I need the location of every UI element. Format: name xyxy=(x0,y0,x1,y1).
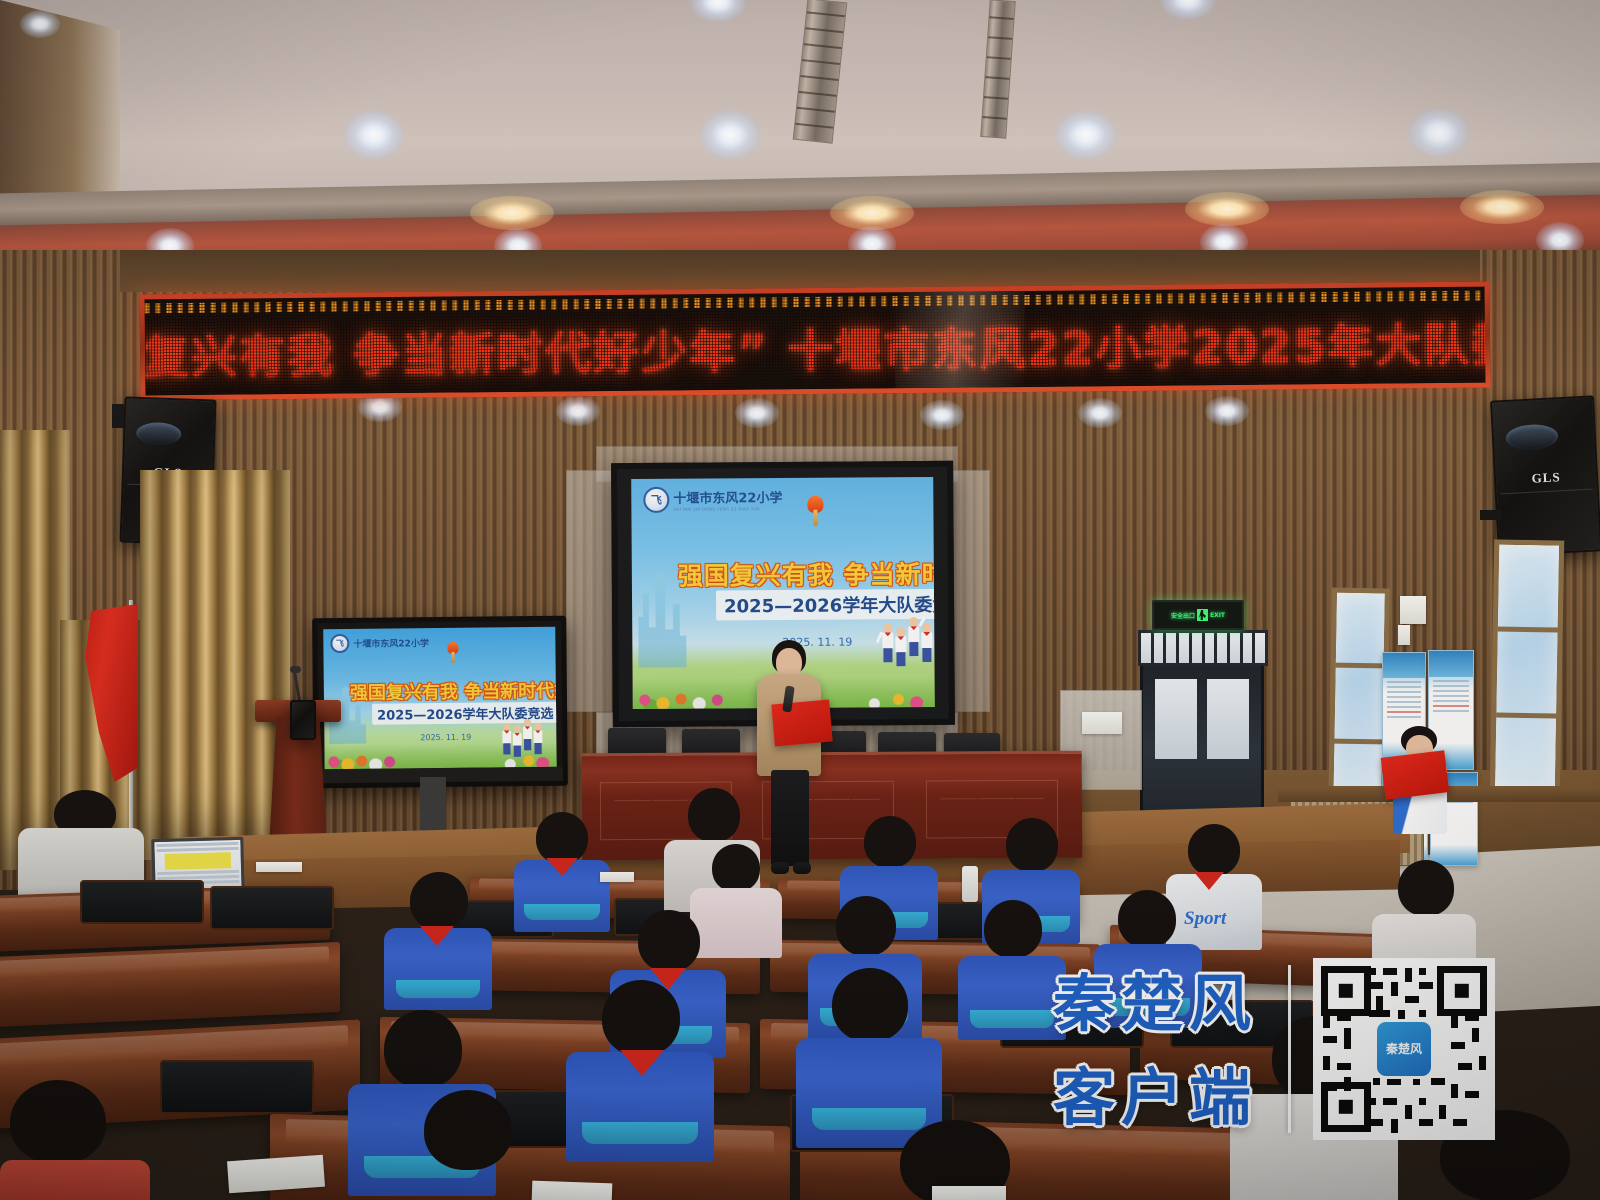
exit-sign: 安全出口 EXIT xyxy=(1152,600,1244,630)
slide-torch-icon xyxy=(807,496,823,526)
transom-pane xyxy=(1255,633,1265,663)
ceiling-cove-light xyxy=(1185,192,1269,226)
transom-pane xyxy=(1154,633,1164,663)
desk-paper xyxy=(600,872,634,882)
transom-pane xyxy=(1243,633,1253,663)
watermark-line-2: 客户端 xyxy=(1035,1047,1275,1137)
transom-pane xyxy=(1205,633,1215,663)
audience-desk-row xyxy=(0,942,340,1028)
door-glass-panel xyxy=(1155,679,1197,759)
slide-kid xyxy=(895,627,906,666)
led-banner-text: “强国复兴有我 争当新时代好少年” 十堰市东风22小学2025年大队委竞选 xyxy=(140,307,1491,388)
audience-student xyxy=(512,812,612,922)
student-hair xyxy=(1118,890,1176,948)
soffit-light xyxy=(735,398,779,428)
slide-school-name: 十堰市东风22小学 xyxy=(673,487,782,507)
transom-pane xyxy=(1230,633,1240,663)
qr-eye-tr xyxy=(1437,966,1487,1016)
student-collar xyxy=(582,1122,698,1144)
transom-pane xyxy=(1166,633,1176,663)
right-window-1 xyxy=(1328,588,1390,817)
poster-header xyxy=(1383,653,1425,678)
ceiling-cove-light xyxy=(830,196,914,230)
student-hair xyxy=(424,1090,512,1170)
slide-kid xyxy=(908,617,919,656)
poster-header xyxy=(1429,651,1473,677)
slide-kid xyxy=(533,723,542,754)
watermark-divider xyxy=(1288,965,1291,1133)
desk-paper xyxy=(932,1186,1006,1200)
audience-student xyxy=(382,872,494,1002)
watermark-brand: 秦楚风 客户端 xyxy=(1035,955,1275,1135)
door-glass-panel xyxy=(1207,679,1249,759)
student-jacket xyxy=(0,1160,150,1200)
slide-subtitle: 2025—2026学年大队委竞选 xyxy=(716,589,935,621)
student-hair xyxy=(638,910,700,972)
ceiling-downlight xyxy=(700,110,760,160)
ceiling-cove-light xyxy=(470,196,554,230)
tv-school-name: 十堰市东风22小学 xyxy=(353,636,429,650)
water-bottle xyxy=(962,866,978,902)
audience-student xyxy=(404,1090,534,1200)
soffit-light xyxy=(1078,398,1122,428)
exit-sign-cn-left: 安全出口 xyxy=(1171,611,1195,620)
led-screen: “强国复兴有我 争当新时代好少年” 十堰市东风22小学2025年大队委竞选 xyxy=(145,301,1486,396)
wall-switch-plate xyxy=(1398,625,1410,645)
desk-paper xyxy=(532,1181,613,1200)
speaker-split-line xyxy=(1501,489,1593,495)
transom-pane xyxy=(1179,633,1189,663)
tv-slide: 飞 十堰市东风22小学 强国复兴有我 争当新时代好少年 2025—2026学年大… xyxy=(323,627,556,769)
spreadsheet-highlight xyxy=(165,852,231,870)
exit-sign-en: EXIT xyxy=(1210,612,1225,619)
desk-paper xyxy=(256,862,302,872)
audience-seatback xyxy=(80,880,204,924)
tv-school-logo: 飞 十堰市东风22小学 xyxy=(330,633,429,653)
wall-speaker-right: GLS xyxy=(1490,395,1600,556)
audience-seatback xyxy=(210,886,334,930)
slide-kid xyxy=(523,719,532,750)
speaker-brand-label: GLS xyxy=(1496,467,1597,488)
window-mullion xyxy=(1496,712,1556,718)
window-mullion xyxy=(1334,739,1382,745)
transom-pane xyxy=(1192,633,1202,663)
speaker-bracket-right xyxy=(1480,510,1502,520)
soffit-light xyxy=(920,400,964,430)
soffit-light xyxy=(556,396,600,426)
speaker-horn xyxy=(135,422,182,446)
presenter-red-folder xyxy=(771,700,832,747)
ceiling-cove-light xyxy=(1460,190,1544,224)
ceiling-downlight xyxy=(20,10,60,38)
desk-paper xyxy=(227,1155,325,1194)
window-mullion xyxy=(1498,626,1558,632)
auditorium-photo: “强国复兴有我 争当新时代好少年” 十堰市东风22小学2025年大队委竞选 GL… xyxy=(0,0,1600,1200)
podium-mic-head xyxy=(290,666,301,673)
window-mullion xyxy=(1336,663,1384,669)
led-banner: “强国复兴有我 争当新时代好少年” 十堰市东风22小学2025年大队委竞选 xyxy=(140,282,1491,401)
slide-kid xyxy=(513,726,522,757)
wall-panel xyxy=(566,470,612,712)
right-window-2 xyxy=(1490,539,1565,800)
slide-kid xyxy=(882,623,893,662)
student-reading xyxy=(1385,726,1455,866)
slide-kid xyxy=(502,723,511,754)
wall-info-plate xyxy=(1082,712,1122,734)
student-hair xyxy=(836,896,896,956)
student-hair xyxy=(984,900,1042,958)
student-hair xyxy=(384,1010,462,1088)
slide-kid xyxy=(921,623,932,662)
led-glare xyxy=(895,291,1026,388)
speaker-bracket-left xyxy=(112,404,124,428)
left-tv-display: 飞 十堰市东风22小学 强国复兴有我 争当新时代好少年 2025—2026学年大… xyxy=(312,616,568,789)
ceiling-downlight xyxy=(344,110,404,160)
soffit-light xyxy=(1205,396,1249,426)
slide-school-logo: 飞 十堰市东风22小学 SHI YAN SHI DONG FENG 22 XIA… xyxy=(643,486,782,513)
tv-torch-icon xyxy=(447,642,458,663)
slide-kid xyxy=(934,619,935,658)
qr-eye-tl xyxy=(1321,966,1371,1016)
podium-monitor-speaker xyxy=(290,700,316,740)
school-badge-icon: 飞 xyxy=(643,487,669,513)
student-collar xyxy=(396,980,480,998)
running-man-icon xyxy=(1197,609,1208,621)
student-collar xyxy=(524,904,600,920)
student-hair xyxy=(832,968,908,1042)
slide-school-pinyin: SHI YAN SHI DONG FENG 22 XIAO XUE xyxy=(673,506,782,512)
door-transom xyxy=(1138,630,1268,666)
tv-students-illustration xyxy=(502,719,542,755)
qr-center-logo: 秦楚风 xyxy=(1377,1022,1431,1076)
watermark-line-1: 秦楚风 xyxy=(1035,953,1275,1043)
student-hair xyxy=(602,980,680,1056)
ceiling-downlight xyxy=(1055,110,1117,160)
school-badge-icon: 飞 xyxy=(330,634,349,653)
transom-pane xyxy=(1217,633,1227,663)
transom-pane xyxy=(1141,633,1151,663)
stage-curtain-left-2 xyxy=(140,470,290,860)
audience-student xyxy=(566,980,716,1160)
tv-date: 2025. 11. 19 xyxy=(420,733,471,743)
ceiling-downlight xyxy=(1408,108,1470,158)
qr-code: 秦楚风 xyxy=(1313,958,1495,1140)
slide-title: 强国复兴有我 争当新时代好少年 xyxy=(678,554,935,593)
student-hair xyxy=(10,1080,106,1164)
speaker-horn xyxy=(1505,424,1558,451)
audience-student xyxy=(0,1080,160,1200)
audience-seatback xyxy=(160,1060,314,1114)
qr-logo-text: 秦楚风 xyxy=(1386,1043,1422,1055)
slide-students-illustration xyxy=(882,617,935,662)
student-red-folder xyxy=(1381,750,1450,799)
tv-title: 强国复兴有我 争当新时代好少年 xyxy=(350,676,557,705)
wall-notice-small xyxy=(1400,596,1426,624)
presenter-shoe xyxy=(793,862,811,874)
